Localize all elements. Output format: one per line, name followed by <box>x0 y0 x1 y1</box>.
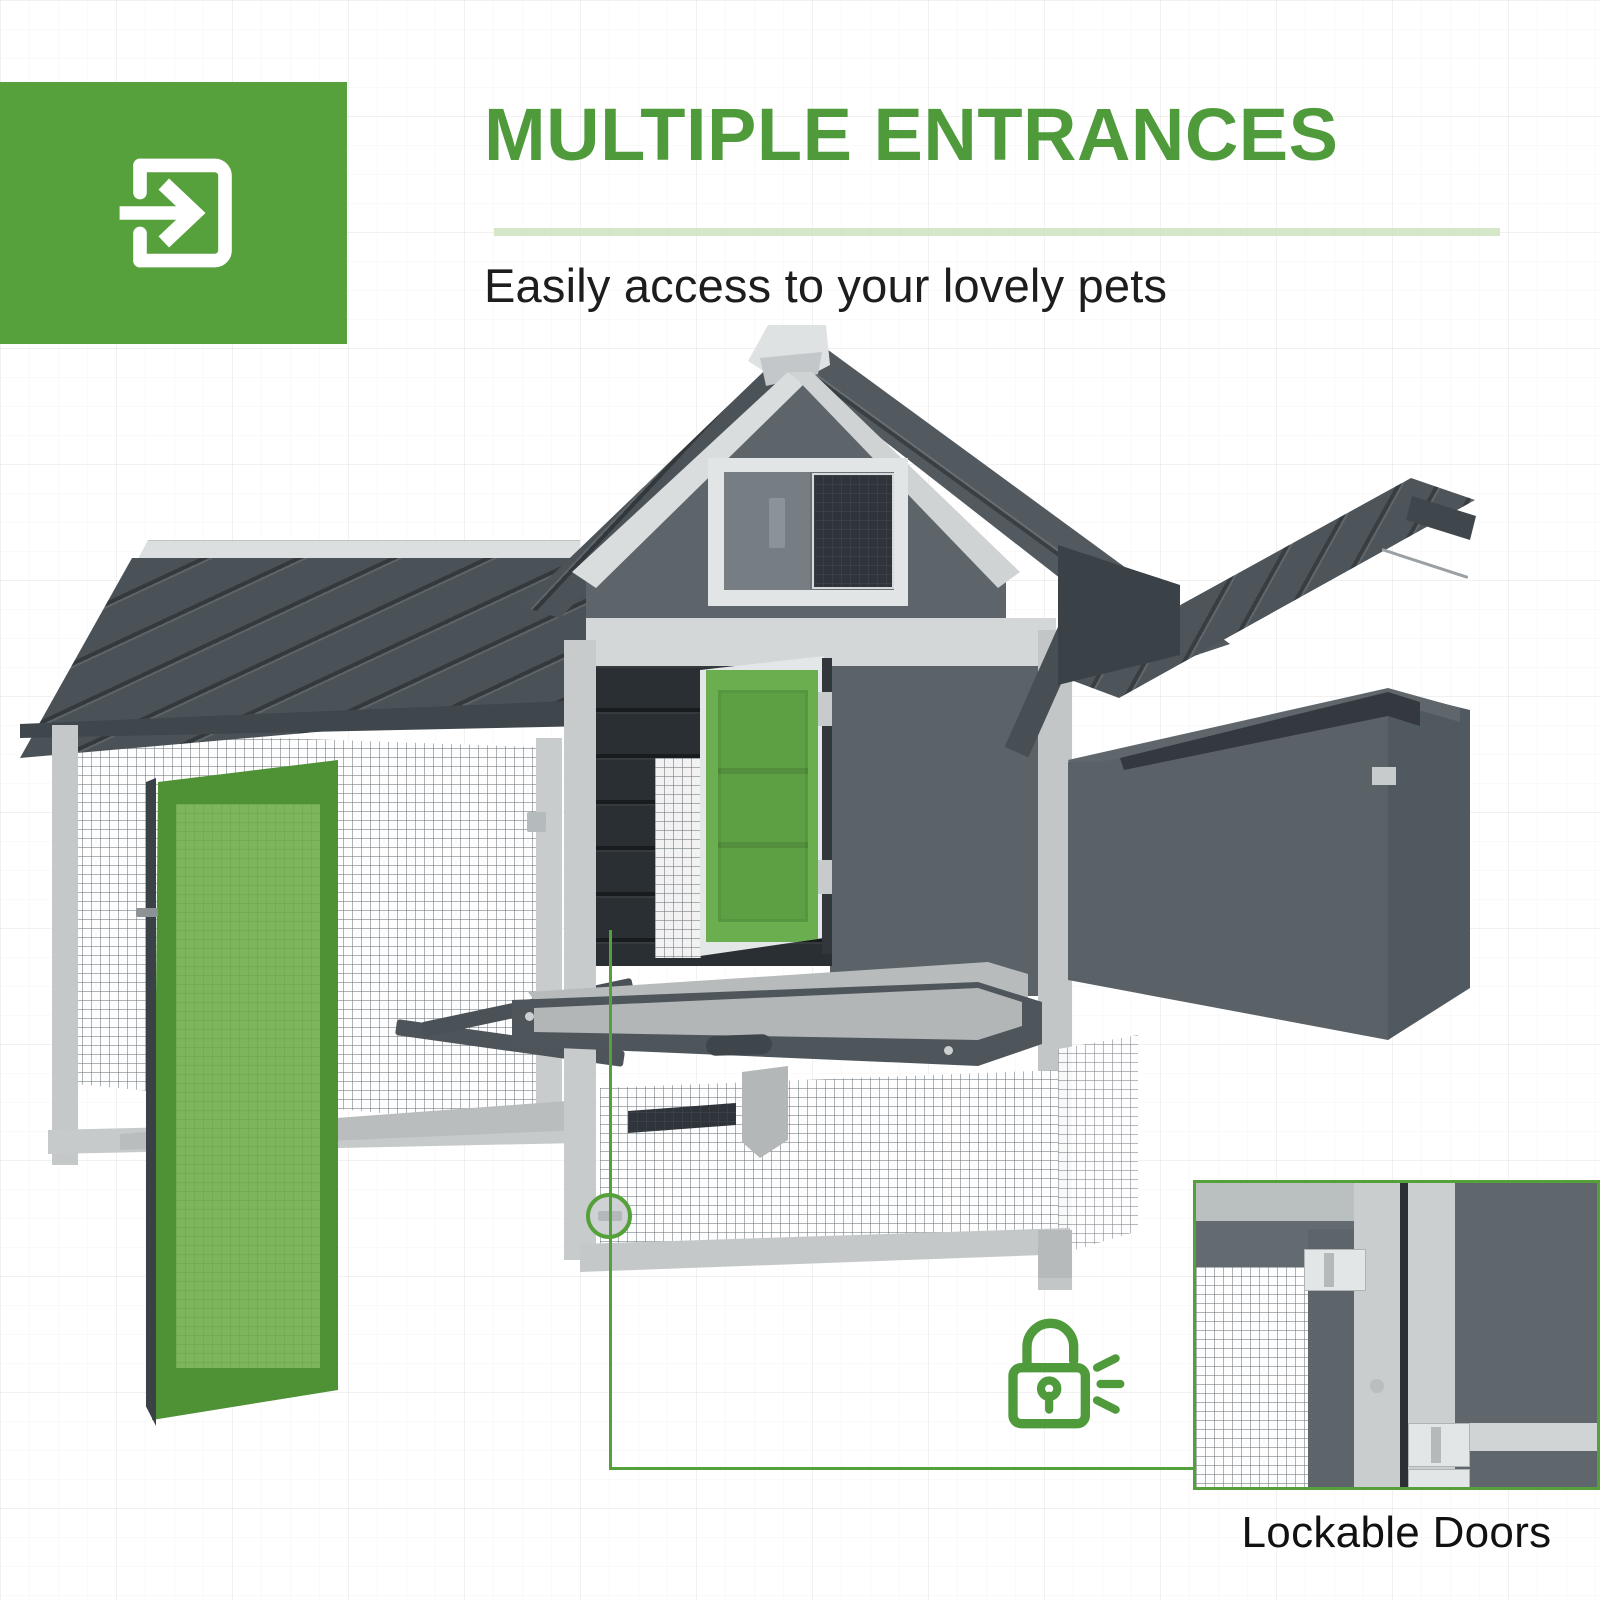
coop-door-open[interactable] <box>700 656 824 956</box>
inset-hinge-top-pin <box>1324 1253 1334 1287</box>
run-ledge <box>742 1066 788 1158</box>
inset-screw <box>1370 1379 1384 1393</box>
lower-run-side-mesh <box>1058 1035 1138 1255</box>
run-door-edge <box>146 778 156 1426</box>
tray-screw-right <box>944 1046 953 1055</box>
coop-door-hinge-upper[interactable] <box>818 692 832 726</box>
product-illustration: PawHut✦ <box>0 300 1600 1320</box>
inset-hinge-bottom-pin <box>1431 1427 1441 1463</box>
inset-light-rail <box>1455 1423 1600 1451</box>
nesting-box-right-face <box>1388 690 1470 1042</box>
lid-stay-wire <box>1382 548 1469 579</box>
inset-hinge-bottom-2 <box>1408 1469 1470 1490</box>
detail-inset-panel <box>1193 1180 1600 1490</box>
inset-mesh-panel <box>1196 1267 1316 1490</box>
house-interior-mesh <box>655 758 701 958</box>
pullout-tray-handle[interactable] <box>706 1034 773 1056</box>
nesting-box-hinge <box>1372 767 1396 785</box>
tray-screw-left <box>525 1012 534 1021</box>
run-side-latch[interactable] <box>527 812 546 832</box>
window-mesh-border <box>812 473 894 589</box>
window-slide-panel[interactable] <box>724 472 810 590</box>
run-post-left <box>52 725 78 1165</box>
house-leg-right <box>1038 1230 1072 1278</box>
house-post-left <box>564 640 596 1260</box>
run-door-latch[interactable] <box>136 908 158 917</box>
inset-frame-post <box>1354 1183 1402 1490</box>
window-slide-handle[interactable] <box>769 498 785 548</box>
unlocked-padlock-icon <box>985 1300 1125 1445</box>
inset-hinge-top <box>1304 1249 1366 1291</box>
page-title: MULTIPLE ENTRANCES <box>484 98 1584 172</box>
callout-line-horizontal <box>609 1467 1199 1470</box>
run-post-right <box>536 738 562 1138</box>
callout-line-vertical <box>609 930 612 1470</box>
title-divider <box>494 228 1500 236</box>
run-door-open[interactable] <box>152 760 338 1420</box>
inset-caption: Lockable Doors <box>1193 1508 1600 1558</box>
coop-door-hinge-lower[interactable] <box>818 860 832 894</box>
